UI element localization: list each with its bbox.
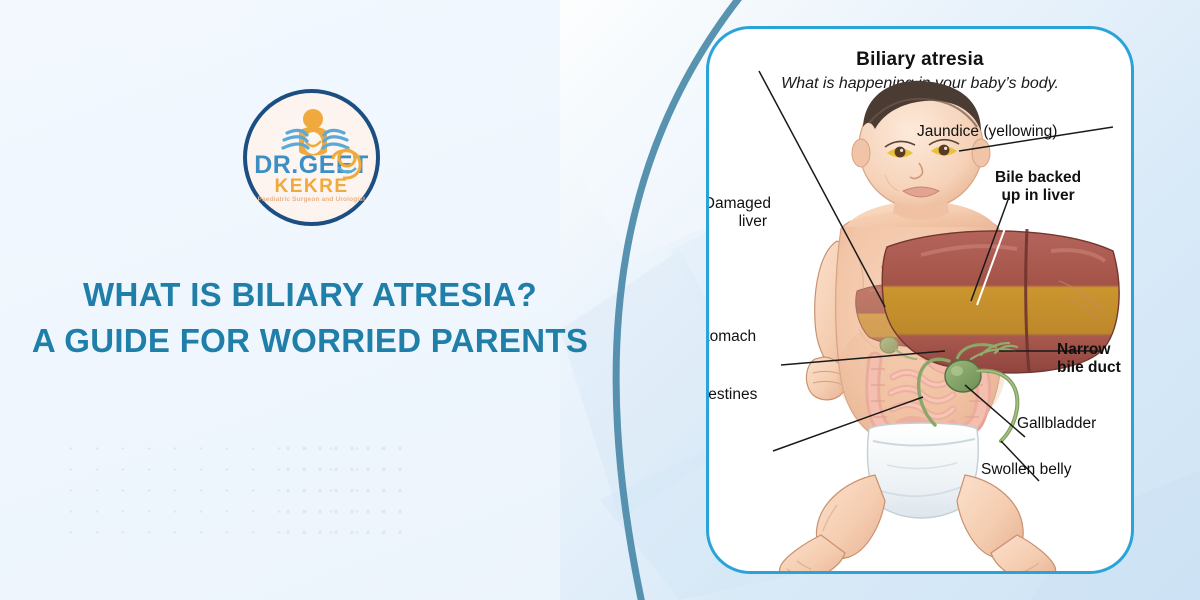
label-narrow-line2: bile duct — [1057, 359, 1121, 376]
label-stomach: Stomach — [706, 328, 756, 346]
infographic-banner: DR.GEET KEKRE Paediatric Surgeon and Uro… — [0, 0, 1200, 600]
label-damaged-liver: Damaged liver — [706, 195, 771, 230]
label-swollen-belly: Swollen belly — [981, 461, 1071, 479]
label-damaged-liver-line1: Damaged — [706, 195, 771, 212]
label-gallbladder: Gallbladder — [1017, 415, 1096, 433]
headline-line-2: A GUIDE FOR WORRIED PARENTS — [0, 318, 620, 364]
brand-logo[interactable]: DR.GEET KEKRE Paediatric Surgeon and Uro… — [243, 89, 380, 226]
dot-grid-pattern-dense — [280, 438, 410, 546]
label-bile-backed-up: Bile backed up in liver — [995, 169, 1081, 204]
anatomy-illustration — [709, 29, 1131, 571]
page-title: WHAT IS BILIARY ATRESIA? A GUIDE FOR WOR… — [0, 272, 620, 363]
label-damaged-liver-line2: liver — [739, 213, 771, 231]
logo-tagline: Paediatric Surgeon and Urologist — [247, 197, 376, 204]
headline-line-1: WHAT IS BILIARY ATRESIA? — [83, 276, 537, 313]
label-narrow-bile-duct: Narrow bile duct — [1057, 341, 1121, 376]
label-intestines: Intestines — [706, 386, 757, 404]
label-bile-line2: up in liver — [1001, 187, 1074, 204]
logo-name-secondary: KEKRE — [247, 177, 376, 196]
label-jaundice: Jaundice (yellowing) — [917, 123, 1057, 141]
label-bile-line1: Bile backed — [995, 169, 1081, 186]
illustration-card: Biliary atresia What is happening in you… — [706, 26, 1134, 574]
label-narrow-line1: Narrow — [1057, 341, 1110, 358]
